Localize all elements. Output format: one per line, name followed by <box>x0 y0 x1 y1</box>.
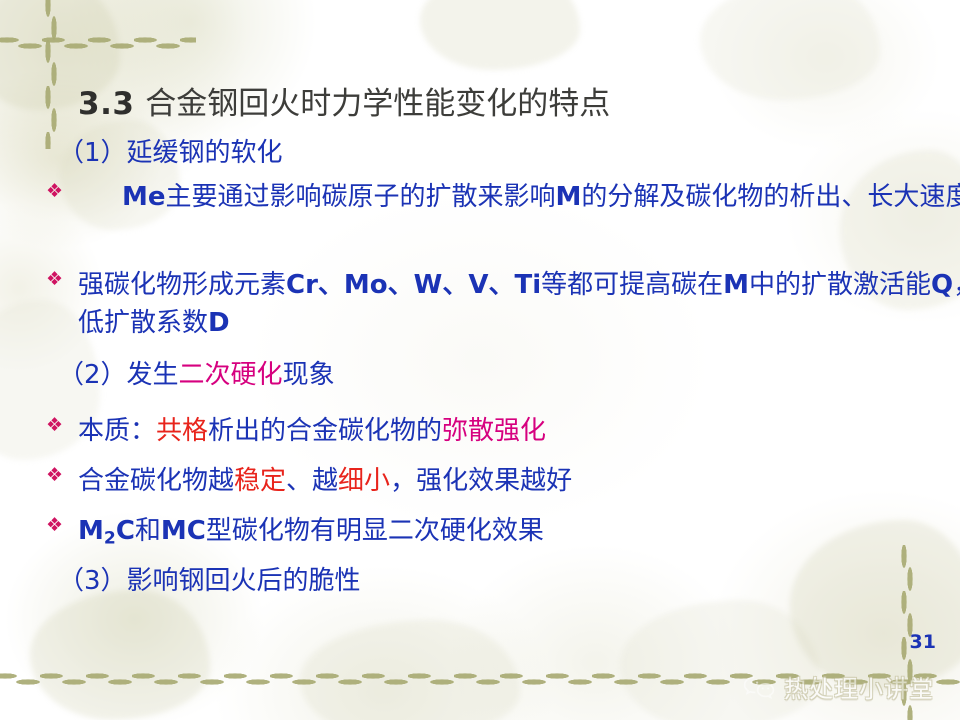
background-petal <box>30 590 210 720</box>
diamond-bullet-icon: ❖ <box>46 416 64 434</box>
seg-dispersion: 弥散强化 <box>442 416 546 446</box>
seg-5: 中的扩散激活能 <box>749 270 931 300</box>
slide-title-heading: 合金钢回火时力学性能变化的特点 <box>145 86 610 122</box>
seg-1: 本质： <box>78 416 156 446</box>
bullet-essence: ❖ 本质：共格析出的合金碳化物的弥散强化 <box>0 412 960 450</box>
wechat-icon <box>742 675 776 699</box>
background-petal <box>420 0 580 70</box>
bullet-me-seg-m: M <box>556 182 582 212</box>
seg-fine: 细小 <box>338 466 390 496</box>
slide-canvas: 3.3 合金钢回火时力学性能变化的特点 （1）延缓钢的软化 ❖ Me主要通过影响… <box>0 0 960 720</box>
bullet-stability: ❖ 合金碳化物越稳定、越细小，强化效果越好 <box>0 462 960 500</box>
seg-m: M <box>78 516 104 546</box>
seg-1: 合金碳化物越 <box>78 466 234 496</box>
section-3-label: （3）影响钢回火后的脆性 <box>58 566 361 596</box>
seg-3: 、越 <box>286 466 338 496</box>
slide-title-number: 3.3 <box>78 86 134 122</box>
seg-d: D <box>208 308 230 338</box>
seg-mc: MC <box>161 516 206 546</box>
seg-5: 型碳化物有明显二次硬化效果 <box>206 516 544 546</box>
seg-m: M <box>723 270 749 300</box>
bullet-m2c-text: M2C和MC型碳化物有明显二次硬化效果 <box>78 512 960 557</box>
seg-subscript-2: 2 <box>104 528 116 548</box>
bullet-m2c: ❖ M2C和MC型碳化物有明显二次硬化效果 <box>0 512 960 557</box>
seg-5: ，强化效果越好 <box>390 466 572 496</box>
seg-3: 析出的合金碳化物的 <box>208 416 442 446</box>
bullet-stability-text: 合金碳化物越稳定、越细小，强化效果越好 <box>78 462 960 500</box>
section-2-label-highlight: 二次硬化 <box>179 360 283 390</box>
bullet-essence-text: 本质：共格析出的合金碳化物的弥散强化 <box>78 412 960 450</box>
section-heading-2: （2）发生二次硬化现象 <box>0 356 960 394</box>
background-petal <box>300 620 520 720</box>
seg-stable: 稳定 <box>234 466 286 496</box>
seg-coherent: 共格 <box>156 416 208 446</box>
section-heading-3: （3）影响钢回火后的脆性 <box>0 562 960 600</box>
section-2-label-part1: （2）发生 <box>58 360 179 390</box>
page-number: 31 <box>910 631 936 653</box>
diamond-bullet-icon: ❖ <box>46 466 64 484</box>
slide-title: 3.3 合金钢回火时力学性能变化的特点 <box>78 83 610 125</box>
bullet-me-seg-me: Me <box>122 182 166 212</box>
background-petal <box>620 600 820 720</box>
seg-1: 强碳化物形成元素 <box>78 270 286 300</box>
seg-q: Q <box>931 270 953 300</box>
diamond-bullet-icon: ❖ <box>46 182 64 200</box>
section-1-label: （1）延缓钢的软化 <box>58 138 283 168</box>
diamond-bullet-icon: ❖ <box>46 270 64 288</box>
seg-elements: Cr、Mo、W、V、Ti <box>286 270 541 300</box>
watermark-text: 热处理小讲堂 <box>784 669 934 704</box>
background-petal <box>700 0 880 100</box>
watermark: 热处理小讲堂 <box>742 669 934 704</box>
seg-3: 等都可提高碳在 <box>541 270 723 300</box>
diamond-bullet-icon: ❖ <box>46 516 64 534</box>
bullet-me: ❖ Me主要通过影响碳原子的扩散来影响M的分解及碳化物的析出、长大速度 <box>0 178 960 216</box>
seg-3: 和 <box>135 516 161 546</box>
bullet-me-seg-4: 的分解及碳化物的析出、长大速度 <box>581 182 960 212</box>
section-2-label-part2: 现象 <box>283 360 335 390</box>
seg-c: C <box>116 516 135 546</box>
bullet-carbide-elements-text: 强碳化物形成元素Cr、Mo、W、V、Ti等都可提高碳在M中的扩散激活能Q，降低扩… <box>78 266 960 342</box>
bullet-me-text: Me主要通过影响碳原子的扩散来影响M的分解及碳化物的析出、长大速度 <box>78 178 960 216</box>
bullet-me-seg-2: 主要通过影响碳原子的扩散来影响 <box>166 182 556 212</box>
bullet-carbide-elements: ❖ 强碳化物形成元素Cr、Mo、W、V、Ti等都可提高碳在M中的扩散激活能Q，降… <box>0 266 960 342</box>
section-heading-1: （1）延缓钢的软化 <box>0 134 960 172</box>
